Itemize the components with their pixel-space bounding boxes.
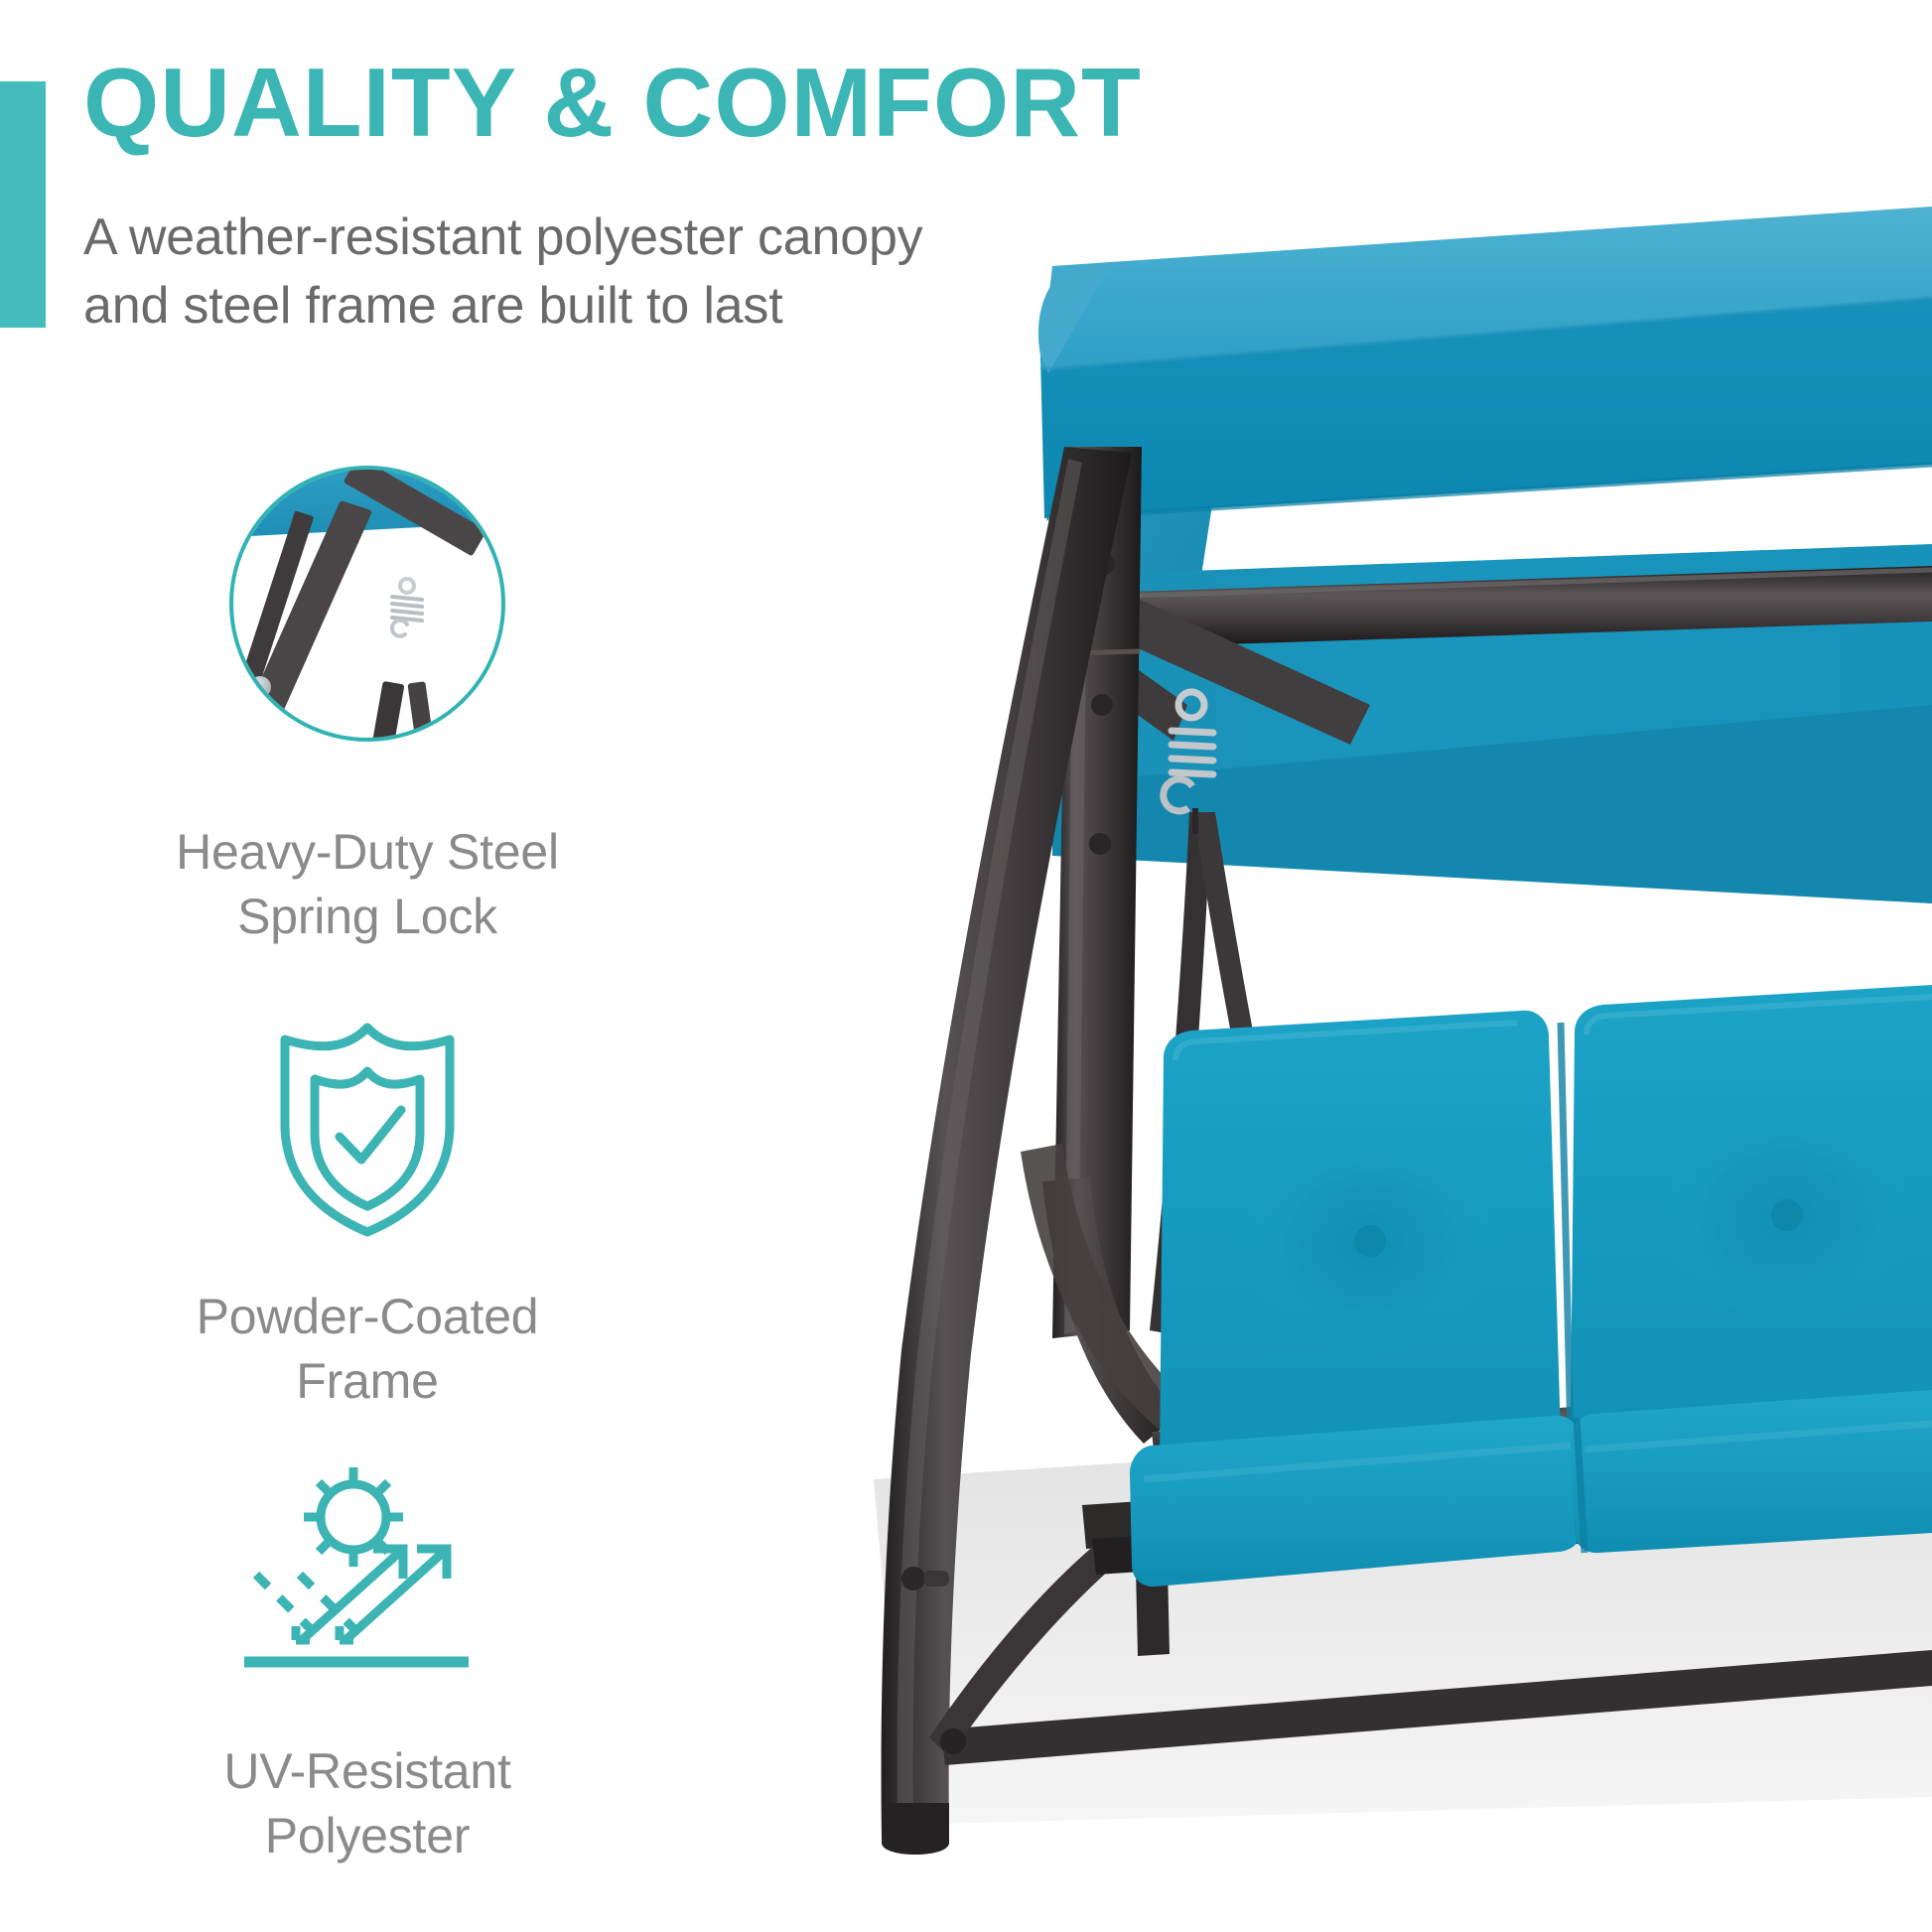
- marketing-image-canvas: QUALITY & COMFORT A weather-resistant po…: [0, 0, 1932, 1932]
- feature-powder-coated-frame: Powder-Coated Frame: [60, 1013, 675, 1414]
- feature-icon-wrap: [60, 1451, 675, 1694]
- feature-caption: UV-Resistant Polyester: [60, 1739, 675, 1868]
- feature-caption: Powder-Coated Frame: [60, 1285, 675, 1414]
- inset-strap-left: [365, 681, 404, 742]
- product-image-patio-swing: [755, 149, 1932, 1932]
- feature-uv-resistant-polyester: UV-Resistant Polyester: [60, 1451, 675, 1868]
- page-title: QUALITY & COMFORT: [83, 52, 1142, 155]
- seat-cushions: [1130, 985, 1932, 1587]
- feature-caption: Heavy-Duty Steel Spring Lock: [60, 820, 675, 949]
- shield-check-icon: [277, 1018, 458, 1242]
- sun-reflect-icon: [234, 1467, 500, 1678]
- feature-spring-lock: Heavy-Duty Steel Spring Lock: [60, 415, 675, 949]
- accent-bar: [0, 81, 46, 328]
- canopy: [1038, 207, 1932, 903]
- inset-screw: [249, 676, 271, 698]
- feature-icon-wrap: [60, 415, 675, 792]
- feature-icon-wrap: [60, 1013, 675, 1247]
- inset-spring-coil: [384, 577, 430, 638]
- spring-lock-photo-icon: [229, 466, 505, 742]
- inset-strap-right: [407, 681, 438, 742]
